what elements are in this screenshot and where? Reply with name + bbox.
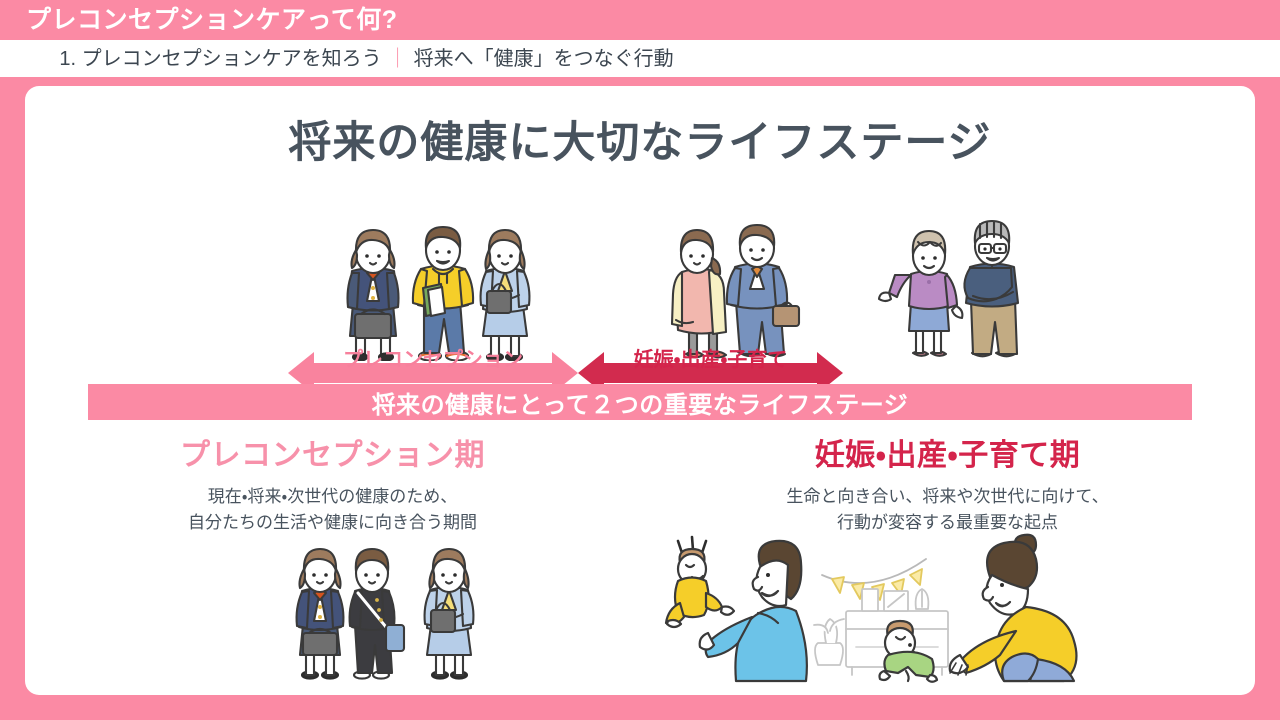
- column-body: 現在・将来・次世代の健康のため、 自分たちの生活や健康に向き合う期間: [25, 484, 640, 537]
- section-number: 1. プレコンセプションケアを知ろう: [59, 48, 381, 70]
- figure-schoolboy: [350, 549, 404, 679]
- slide-root: プレコンセプションケアって何? 1. プレコンセプションケアを知ろう｜将来へ「健…: [0, 0, 1280, 720]
- stage-columns: プレコンセプション期 現在・将来・次世代の健康のため、 自分たちの生活や健康に向…: [25, 430, 1255, 685]
- breadcrumb: 1. プレコンセプションケアを知ろう｜将来へ「健康」をつなぐ行動: [26, 29, 674, 89]
- figure-young-woman: [481, 230, 530, 361]
- breadcrumb-separator: ｜: [382, 48, 414, 70]
- main-heading: 将来の健康に大切なライフステージ: [25, 108, 1255, 170]
- figure-schoolgirl-bottom: [297, 549, 344, 679]
- content-card: 将来の健康に大切なライフステージ: [25, 86, 1255, 695]
- column-body-line: 現在・将来・次世代の健康のため、: [25, 484, 640, 510]
- key-message-banner: 将来の健康にとって２つの重要なライフステージ: [88, 384, 1192, 420]
- column-preconception: プレコンセプション期 現在・将来・次世代の健康のため、 自分たちの生活や健康に向…: [25, 430, 640, 685]
- section-tagline: 将来へ「健康」をつなぐ行動: [414, 48, 674, 70]
- figure-man-suit: [727, 225, 799, 356]
- figure-mother-reaching: [950, 535, 1077, 681]
- figure-schoolgirl: [348, 230, 399, 361]
- column-pregnancy: 妊娠・出産・子育て期 生命と向き合い、将来や次世代に向けて、 行動が変容する最重…: [640, 430, 1255, 685]
- figure-father-lifting-baby: [666, 537, 807, 681]
- figure-elderly-woman: [879, 231, 962, 356]
- students-illustration: [25, 533, 640, 685]
- banner-text: 将来の健康にとって２つの重要なライフステージ: [372, 385, 909, 420]
- column-body: 生命と向き合い、将来や次世代に向けて、 行動が変容する最重要な起点: [640, 484, 1255, 537]
- column-heading: プレコンセプション期: [25, 430, 640, 474]
- figure-working-woman: [425, 549, 474, 679]
- stage-label-pregnancy: 妊娠・出産・子育て: [578, 343, 843, 372]
- stage-label-preconception: プレコンセプション: [288, 343, 578, 372]
- figure-elderly-man: [964, 221, 1018, 356]
- slide-subtitle-bar: 1. プレコンセプションケアを知ろう｜将来へ「健康」をつなぐ行動: [0, 40, 1280, 77]
- lifestage-people-illustration: [25, 166, 1255, 361]
- figure-pregnant-woman: [672, 230, 726, 357]
- lifestage-illustration-band: [25, 166, 1255, 361]
- column-body-line: 生命と向き合い、将来や次世代に向けて、: [640, 484, 1255, 510]
- parenting-illustration: [640, 533, 1255, 685]
- column-heading: 妊娠・出産・子育て期: [640, 430, 1255, 474]
- figure-young-man: [413, 227, 473, 361]
